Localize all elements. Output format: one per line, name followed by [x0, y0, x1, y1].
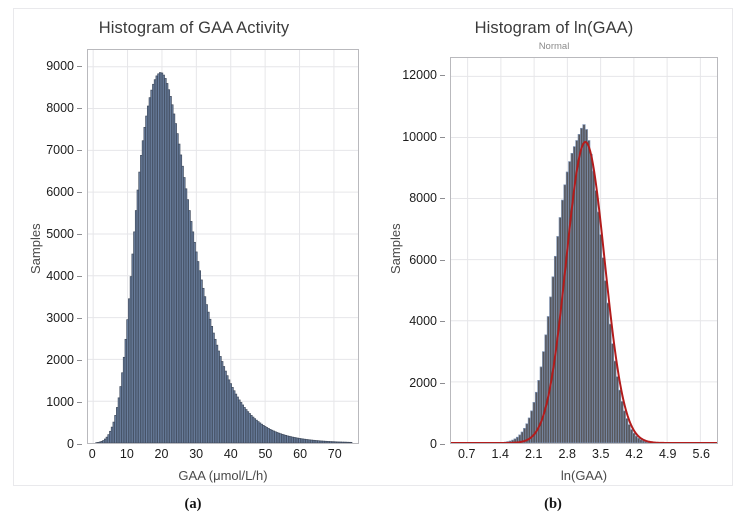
figure-container: Histogram of GAA Activity 01000200030004… — [0, 0, 746, 532]
y-tick-mark — [440, 383, 445, 384]
x-tick-label: 70 — [328, 447, 342, 461]
y-tick-label: 1000 — [46, 395, 74, 409]
y-tick-mark — [440, 444, 445, 445]
chart-title-a: Histogram of GAA Activity — [14, 19, 374, 38]
y-tick-mark — [77, 66, 82, 67]
y-tick-mark — [440, 321, 445, 322]
x-tick-label: 5.6 — [693, 447, 710, 461]
x-tick-label: 3.5 — [592, 447, 609, 461]
y-tick-label: 4000 — [409, 314, 437, 328]
y-tick-mark — [77, 402, 82, 403]
chart-title-b: Histogram of ln(GAA) — [374, 19, 734, 38]
y-tick-mark — [77, 318, 82, 319]
y-tick-label: 3000 — [46, 311, 74, 325]
y-tick-label: 12000 — [402, 68, 437, 82]
normal-fit-curve — [451, 58, 717, 443]
y-tick-label: 4000 — [46, 269, 74, 283]
y-tick-label: 7000 — [46, 143, 74, 157]
y-tick-label: 8000 — [409, 191, 437, 205]
y-tick-label: 6000 — [409, 253, 437, 267]
x-axis-ticks-a: 010203040506070 — [87, 447, 359, 467]
y-tick-label: 5000 — [46, 227, 74, 241]
subfigure-caption-a: (a) — [13, 496, 373, 513]
x-tick-label: 4.9 — [659, 447, 676, 461]
chart-panel-ln-gaa: Histogram of ln(GAA) Normal 020004000600… — [374, 9, 734, 485]
y-tick-mark — [77, 192, 82, 193]
y-tick-mark — [77, 276, 82, 277]
y-tick-mark — [440, 260, 445, 261]
x-tick-label: 40 — [224, 447, 238, 461]
x-tick-label: 2.8 — [559, 447, 576, 461]
subfigure-caption-b: (b) — [373, 496, 733, 513]
y-tick-mark — [77, 108, 82, 109]
y-tick-mark — [440, 198, 445, 199]
figure-frame: Histogram of GAA Activity 01000200030004… — [13, 8, 733, 486]
x-tick-label: 60 — [293, 447, 307, 461]
y-tick-mark — [77, 444, 82, 445]
y-tick-label: 9000 — [46, 59, 74, 73]
plot-area-a — [87, 49, 359, 444]
y-tick-label: 0 — [430, 437, 437, 451]
y-tick-mark — [77, 150, 82, 151]
y-tick-label: 2000 — [46, 353, 74, 367]
y-tick-label: 2000 — [409, 376, 437, 390]
plot-area-b — [450, 57, 718, 444]
x-tick-label: 4.2 — [626, 447, 643, 461]
y-axis-label-b: Samples — [388, 223, 403, 274]
y-tick-mark — [440, 75, 445, 76]
histogram-bars-a — [88, 50, 358, 443]
x-tick-label: 2.1 — [525, 447, 542, 461]
x-tick-label: 20 — [155, 447, 169, 461]
y-tick-mark — [77, 360, 82, 361]
x-axis-label-b: ln(GAA) — [450, 468, 718, 483]
y-tick-label: 10000 — [402, 130, 437, 144]
x-tick-label: 30 — [189, 447, 203, 461]
y-tick-label: 8000 — [46, 101, 74, 115]
y-tick-mark — [440, 137, 445, 138]
y-tick-mark — [77, 234, 82, 235]
y-axis-label-a: Samples — [28, 223, 43, 274]
chart-panel-gaa-activity: Histogram of GAA Activity 01000200030004… — [14, 9, 374, 485]
x-tick-label: 1.4 — [492, 447, 509, 461]
y-tick-label: 6000 — [46, 185, 74, 199]
x-tick-label: 0.7 — [458, 447, 475, 461]
x-axis-label-a: GAA (μmol/L/h) — [87, 468, 359, 483]
y-tick-label: 0 — [67, 437, 74, 451]
x-axis-ticks-b: 0.71.42.12.83.54.24.95.6 — [450, 447, 718, 467]
chart-subtitle-b: Normal — [374, 41, 734, 52]
x-tick-label: 10 — [120, 447, 134, 461]
x-tick-label: 0 — [89, 447, 96, 461]
x-tick-label: 50 — [258, 447, 272, 461]
